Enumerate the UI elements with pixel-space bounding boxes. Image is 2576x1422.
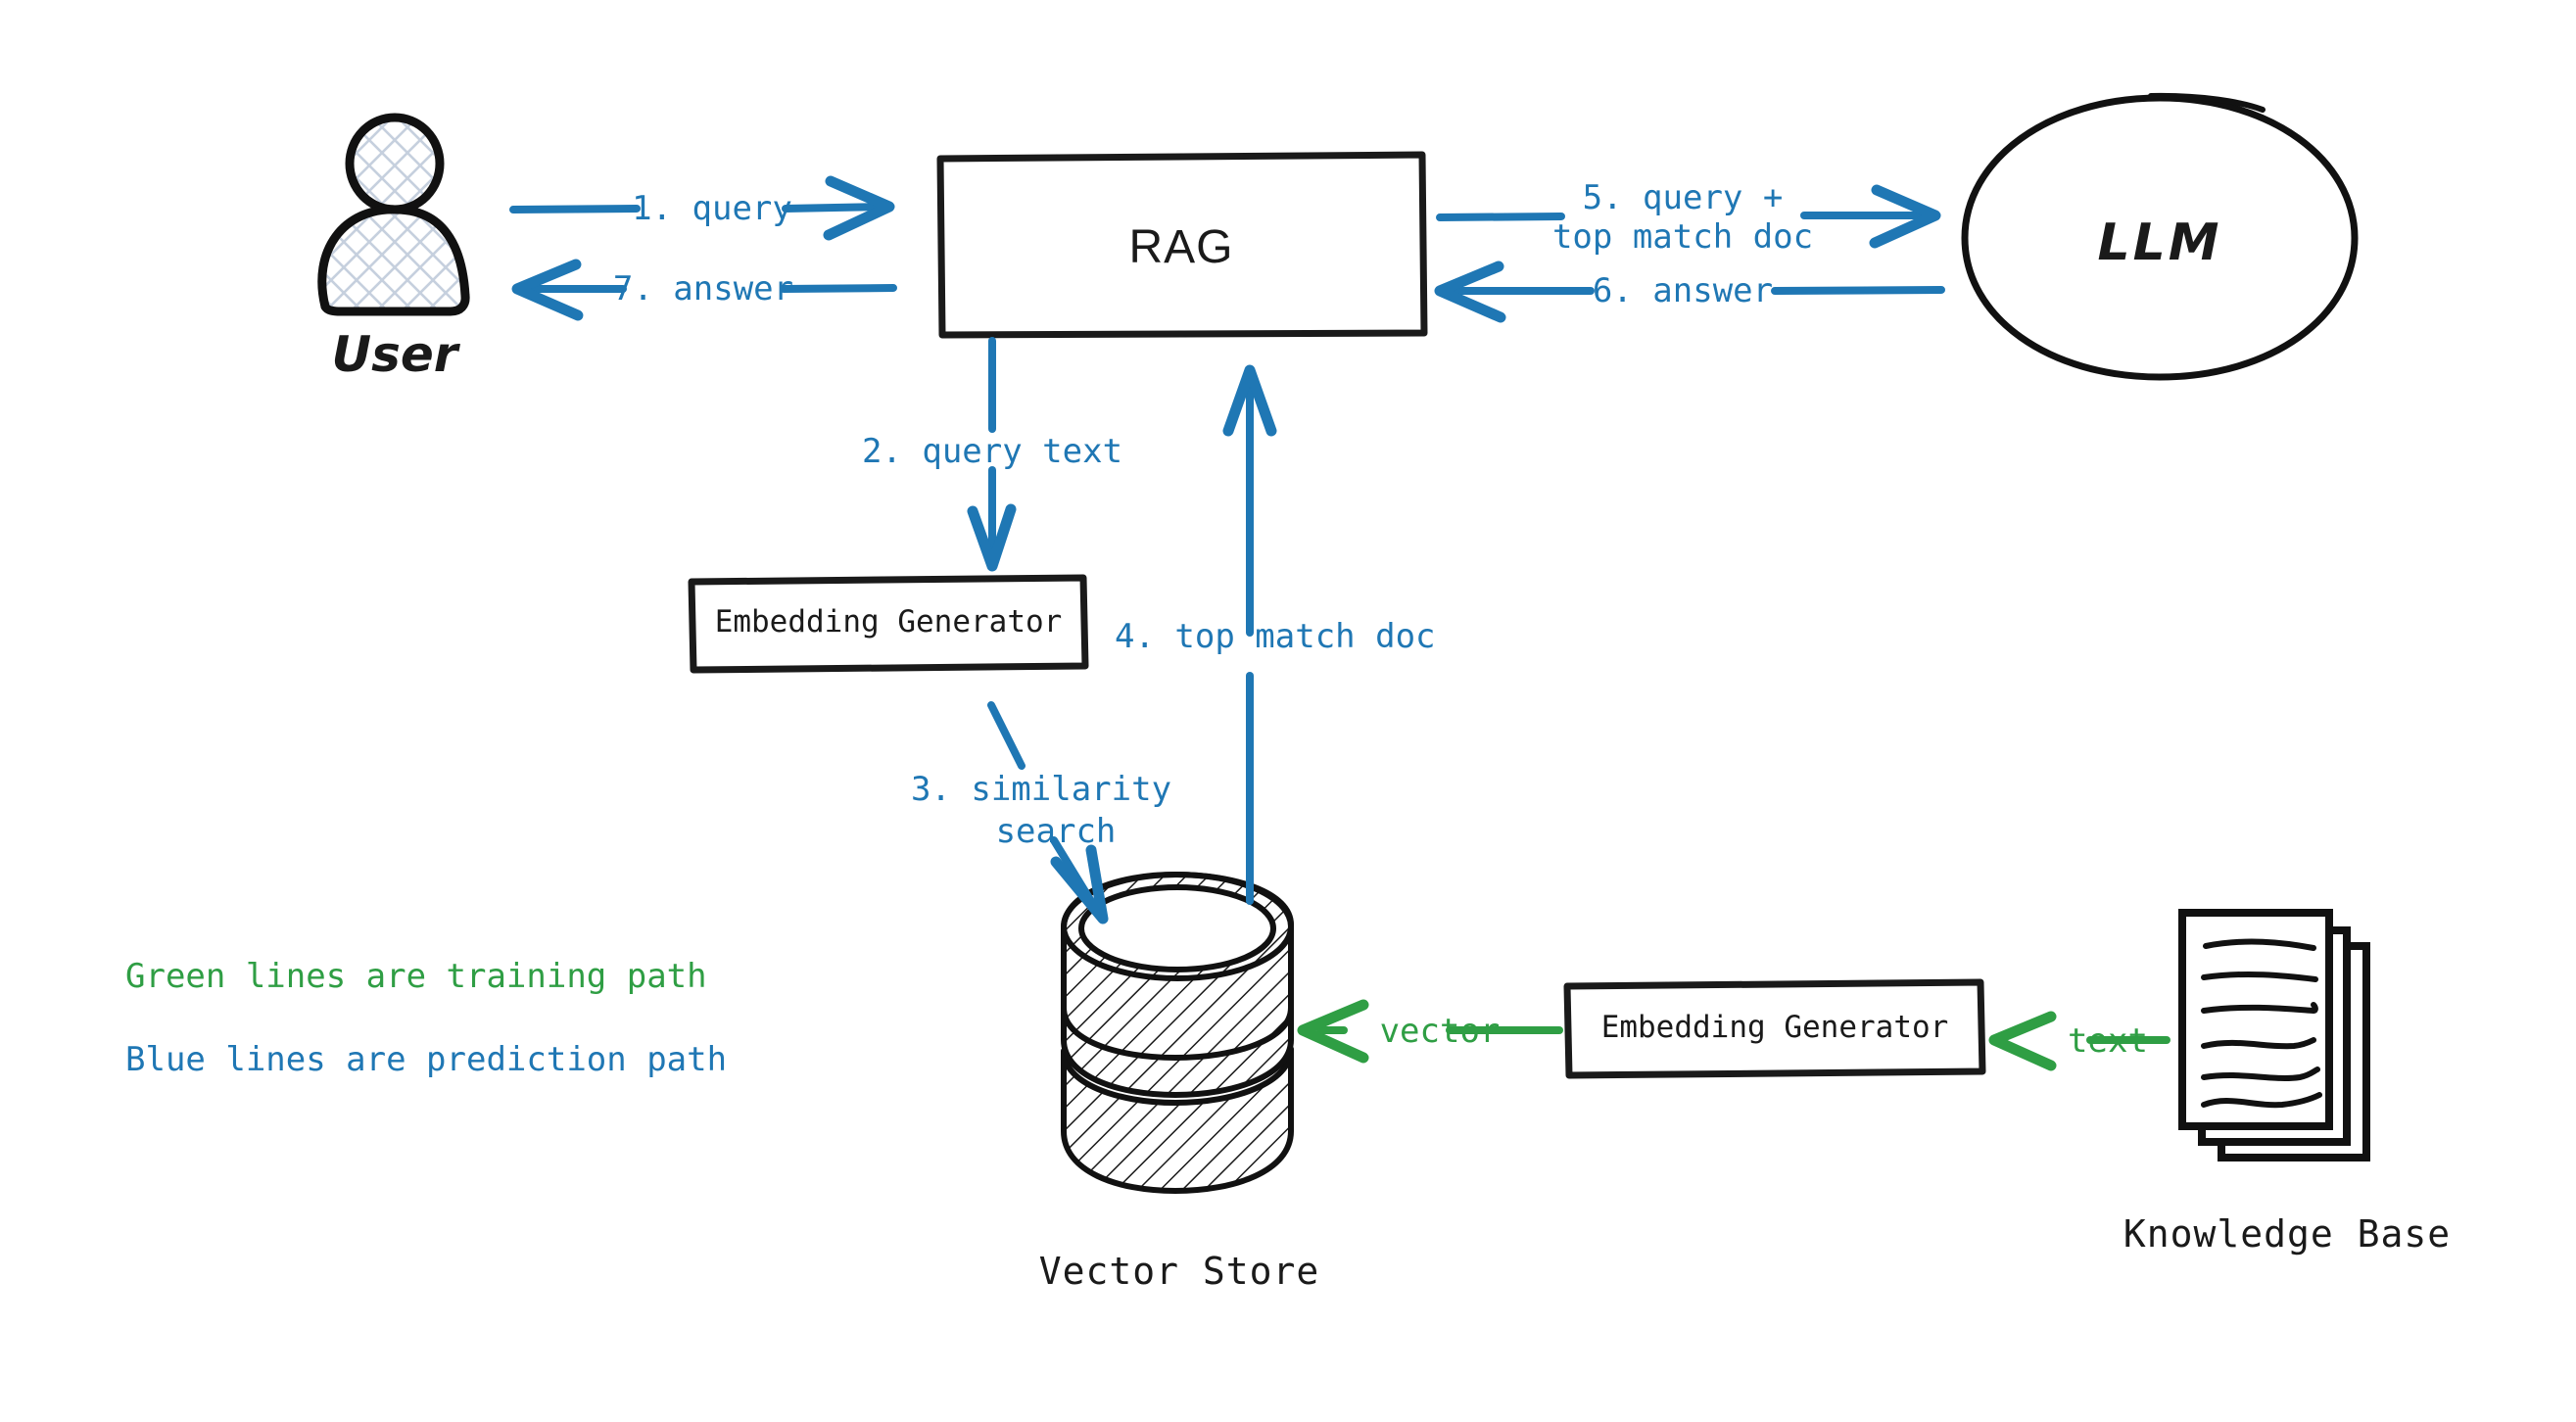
knowledge-base-label: Knowledge Base [2123, 1212, 2451, 1256]
diagram-canvas: User RAG LLM Embedding Generator Embeddi… [0, 0, 2576, 1422]
edge-2-query-text-label: 2. query text [862, 432, 1122, 471]
edge-7-answer-label: 7. answer [613, 269, 793, 308]
llm-label: LLM [2097, 213, 2221, 273]
user-icon [293, 118, 465, 318]
edge-5-query-topmatch-label-line1: 5. query + [1583, 178, 1784, 217]
edge-text-label: text [2068, 1021, 2148, 1061]
rag-label: RAG [1128, 220, 1233, 276]
edge-3-similarity-label-line2: search [996, 812, 1117, 851]
edge-1-query-label: 1. query [632, 189, 792, 228]
legend-green-line: Green lines are training path [125, 957, 707, 996]
edge-6-answer-label: 6. answer [1593, 271, 1773, 310]
embedding-generator-query-label: Embedding Generator [715, 604, 1063, 640]
edge-5-query-topmatch-label-line2: top match doc [1552, 217, 1813, 257]
vector-store-label: Vector Store [1039, 1250, 1320, 1294]
knowledge-base-icon [2182, 913, 2366, 1158]
edge-4-top-match-doc-label: 4. top match doc [1115, 617, 1436, 656]
edge-vector-label: vector [1380, 1012, 1501, 1051]
vector-store-cylinder [1064, 875, 1291, 1191]
embedding-generator-kb-label: Embedding Generator [1601, 1010, 1949, 1046]
user-label: User [332, 326, 458, 384]
edge-3-similarity-label-line1: 3. similarity [911, 770, 1171, 809]
legend-blue-line: Blue lines are prediction path [125, 1040, 727, 1079]
